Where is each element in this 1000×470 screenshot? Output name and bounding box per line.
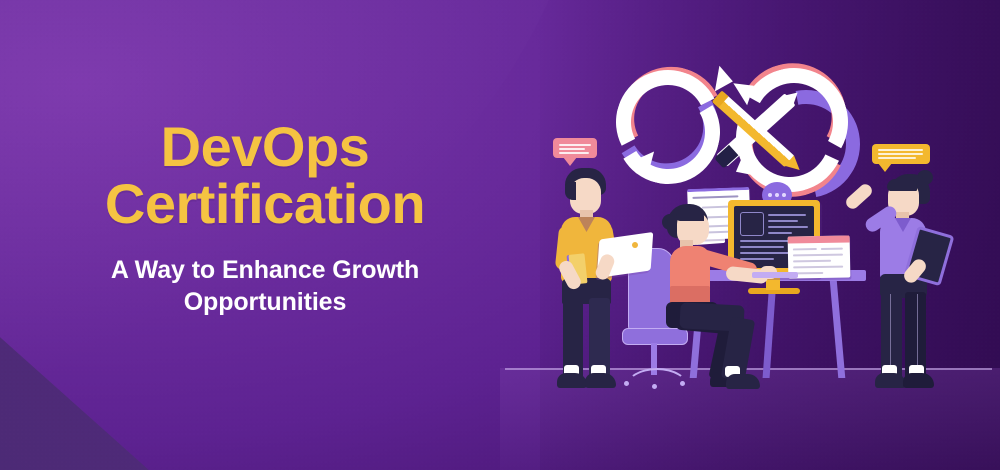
- hair-fringe: [676, 208, 704, 221]
- hair-fringe: [887, 179, 917, 191]
- desk-leg-right: [830, 280, 846, 378]
- shoe-near: [726, 374, 760, 389]
- title-line-1: DevOps: [161, 115, 370, 178]
- crossed-tools-icon: [700, 78, 810, 188]
- devops-certification-banner: DevOps Certification A Way to Enhance Gr…: [0, 0, 1000, 470]
- speech-bubble-pink: [553, 138, 597, 158]
- shoe-left: [557, 373, 587, 388]
- hair-side: [565, 182, 576, 200]
- person-standing-left: [548, 160, 644, 390]
- person-seated-center: [640, 198, 770, 398]
- subtitle-line-2: Opportunities: [0, 286, 530, 318]
- keyboard: [752, 272, 798, 278]
- shoe-left: [875, 373, 906, 388]
- report-header-bar: [788, 235, 850, 243]
- page-subtitle: A Way to Enhance Growth Opportunities: [0, 254, 530, 318]
- shoe-right: [585, 373, 616, 388]
- subtitle-line-1: A Way to Enhance Growth: [111, 256, 419, 284]
- headline-block: DevOps Certification A Way to Enhance Gr…: [0, 118, 530, 318]
- shoe-right: [903, 373, 934, 388]
- laptop-logo-icon: [632, 242, 638, 248]
- page-title: DevOps Certification: [0, 118, 530, 232]
- title-line-2: Certification: [0, 175, 530, 232]
- person-standing-right: [862, 168, 962, 392]
- speech-bubble-yellow: [872, 144, 930, 164]
